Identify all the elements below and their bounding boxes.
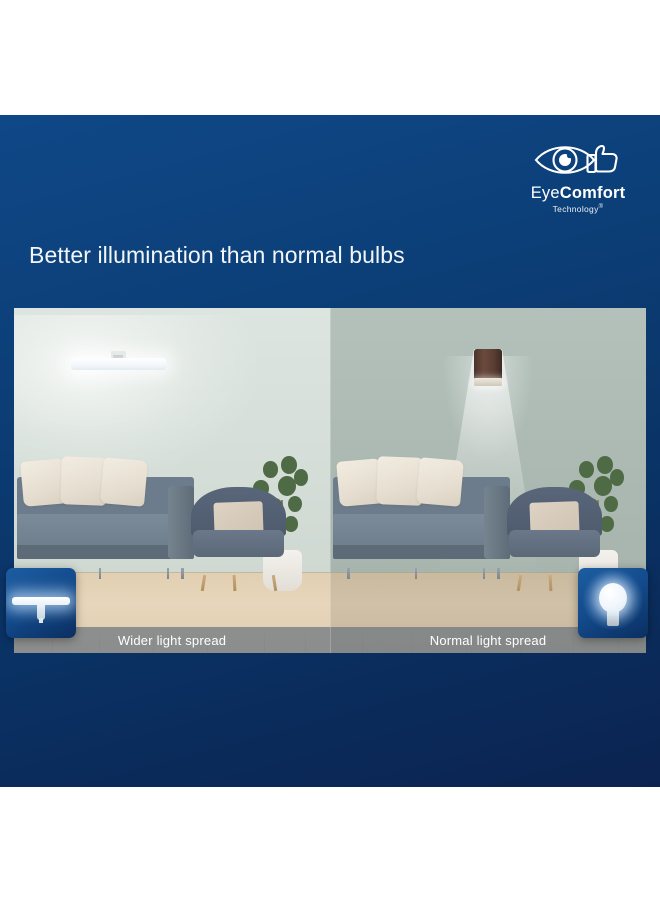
sofa-left [17,477,194,570]
linear-tube-lamp-badge [6,568,76,638]
trademark-symbol: ® [599,204,604,210]
comparison-photo-panel: Wider light spread [14,308,646,653]
armchair-left [191,487,286,577]
linear-led-fixture [71,351,166,370]
hero-banner: EyeComfort Technology® Better illuminati… [0,115,660,787]
sofa-right [333,477,510,570]
caption-left-text: Wider light spread [118,633,226,648]
caption-right-text: Normal light spread [430,633,547,648]
cylinder-downlight-fixture [474,349,502,385]
logo-word-comfort: Comfort [560,184,626,202]
logo-wordmark: EyeComfort [518,184,638,203]
armchair-right [507,487,602,577]
logo-word-eye: Eye [531,184,560,202]
eye-thumbs-up-icon [518,135,638,183]
scene-divider [330,308,331,653]
standard-bulb-badge [578,568,648,638]
logo-tagline: Technology® [518,204,638,214]
page-title: Better illumination than normal bulbs [29,242,405,269]
eyecomfort-logo: EyeComfort Technology® [518,135,638,214]
